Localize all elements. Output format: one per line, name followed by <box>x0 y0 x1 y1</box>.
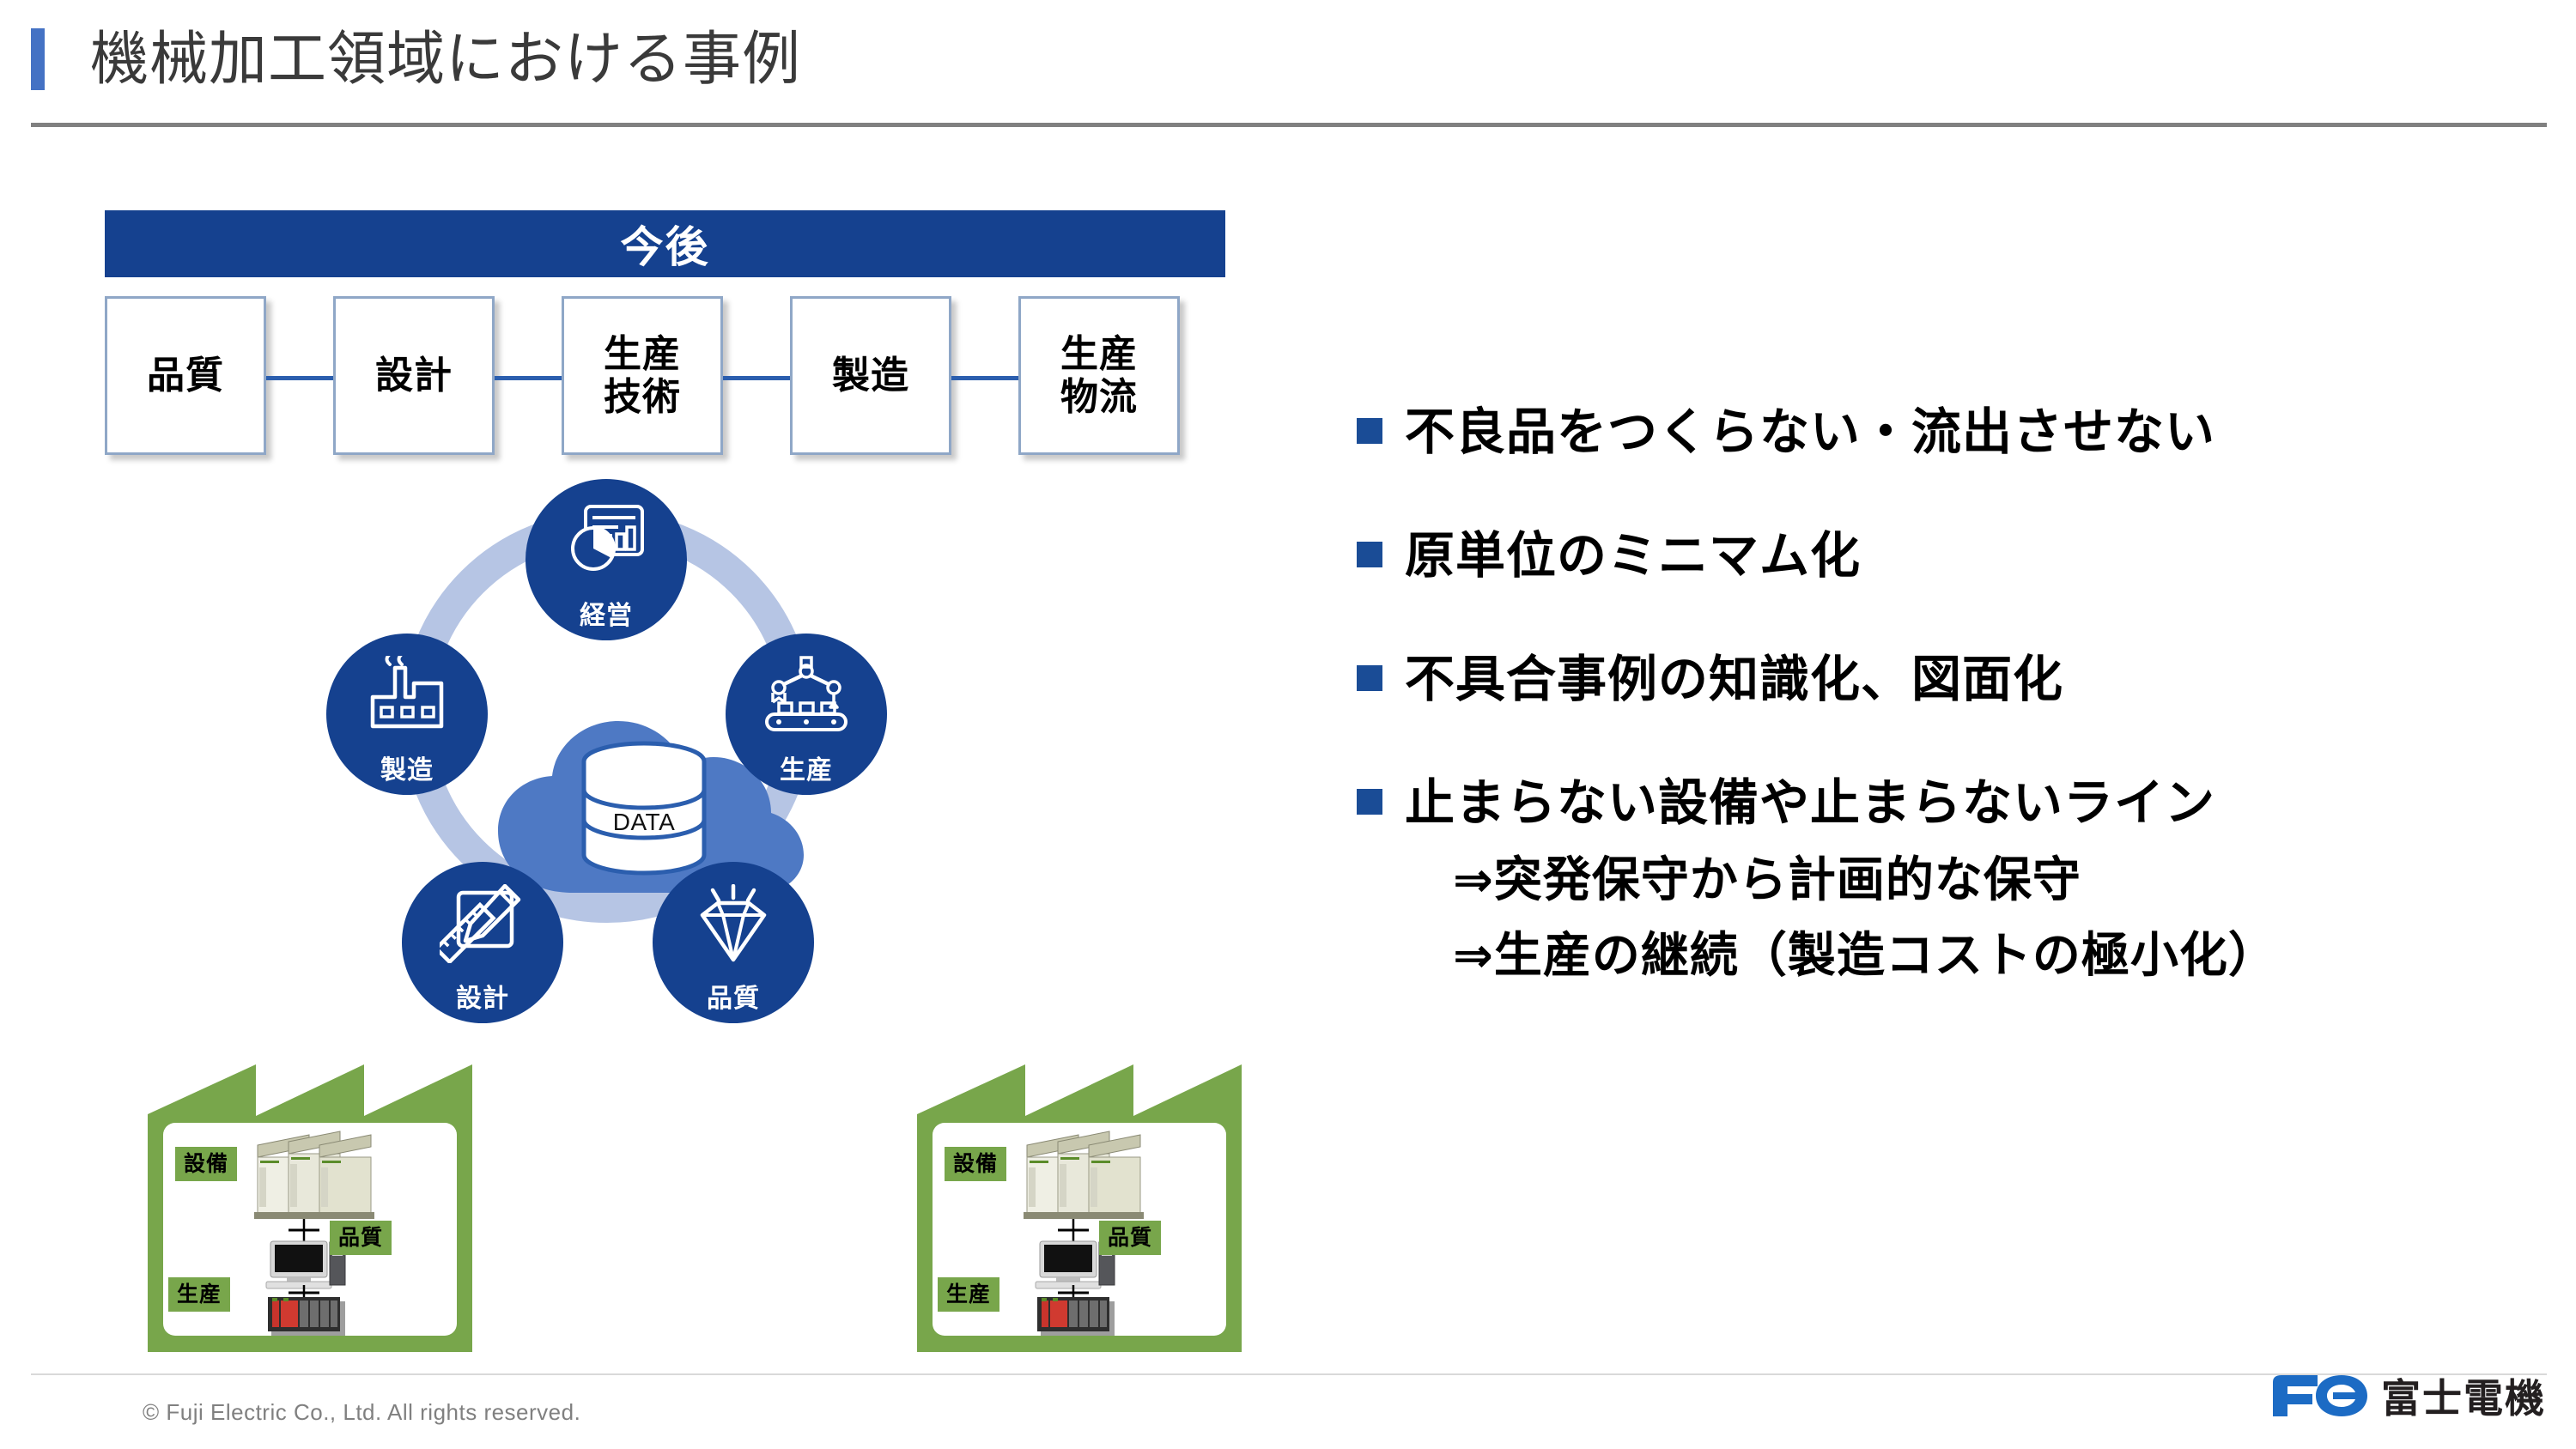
fuji-electric-fe-logo-icon <box>2269 1372 2371 1424</box>
diagram-node-design[interactable]: 設計 <box>402 862 563 1023</box>
copyright-text: © Fuji Electric Co., Ltd. All rights res… <box>143 1399 580 1426</box>
title-accent-bar <box>31 28 45 90</box>
factory-tag-quality: 品質 <box>1099 1221 1161 1255</box>
page-title: 機械加工領域における事例 <box>90 26 801 93</box>
bullet-text: 不良品をつくらない・流出させない <box>1405 403 2215 462</box>
diagram-node-quality[interactable]: 品質 <box>653 862 814 1023</box>
process-box-label: 品質 <box>147 355 224 397</box>
bullet-item-4: 止まらない設備や止まらないライン ⇒突発保守から計画的な保守 ⇒生産の継続（製造… <box>1357 774 2542 984</box>
process-connector-1 <box>266 376 333 380</box>
process-box-label: 生産 技術 <box>604 333 681 419</box>
bullet-item-1: 不良品をつくらない・流出させない <box>1357 403 2542 462</box>
process-connector-2 <box>495 376 562 380</box>
company-logo: 富士電機 <box>2269 1372 2546 1424</box>
footer-divider <box>31 1373 2547 1375</box>
factory-tag-equipment: 設備 <box>945 1147 1006 1181</box>
process-connector-3 <box>723 376 790 380</box>
factory-tag-production: 生産 <box>938 1277 999 1312</box>
process-box-label: 製造 <box>832 355 909 397</box>
bullet-item-3: 不具合事例の知識化、図面化 <box>1357 651 2542 709</box>
process-box-label: 設計 <box>375 355 453 397</box>
process-box-quality[interactable]: 品質 <box>105 296 266 455</box>
diagram-node-label: 生産 <box>780 749 833 786</box>
bullet-text: 原単位のミニマム化 <box>1405 527 1861 585</box>
diagram-node-label: 製造 <box>380 749 434 786</box>
bullet-subline: ⇒生産の継続（製造コストの極小化） <box>1453 927 2277 984</box>
diagram-node-manufacturing[interactable]: 製造 <box>326 634 488 795</box>
process-box-production-technology[interactable]: 生産 技術 <box>562 296 723 455</box>
factory-card-1[interactable]: 設備 品質 生産 <box>148 1064 472 1352</box>
dashboard-chart-icon <box>526 501 687 577</box>
diagram-node-production[interactable]: 生産 <box>726 634 887 795</box>
process-band-header: 今後 <box>105 210 1225 277</box>
bullet-text: 止まらない設備や止まらないライン <box>1405 774 2277 833</box>
bullet-list: 不良品をつくらない・流出させない 原単位のミニマム化 不具合事例の知識化、図面化… <box>1357 403 2542 984</box>
data-hub-diagram: DATA 経営 <box>301 489 987 1142</box>
diagram-node-label: 経営 <box>580 594 633 632</box>
bullet-square-icon <box>1357 789 1382 815</box>
factory-tag-quality: 品質 <box>330 1221 392 1255</box>
pencil-ruler-drawing-icon <box>402 884 563 963</box>
bullet-square-icon <box>1357 418 1382 444</box>
slide-root: 機械加工領域における事例 今後 品質 設計 生産 技術 製造 生産 物流 <box>0 0 2576 1449</box>
factory-tag-equipment: 設備 <box>175 1147 237 1181</box>
process-band-header-label: 今後 <box>621 213 710 275</box>
center-data-label: DATA <box>472 809 816 836</box>
diagram-node-management[interactable]: 経営 <box>526 479 687 640</box>
bullet-text: 不具合事例の知識化、図面化 <box>1405 651 2063 709</box>
process-box-label: 生産 物流 <box>1060 333 1138 419</box>
diagram-node-label: 品質 <box>707 977 760 1015</box>
factory-card-2[interactable]: 設備 品質 生産 <box>917 1064 1242 1352</box>
factory-icon <box>326 656 488 730</box>
diamond-icon <box>653 884 814 963</box>
bullet-item-2: 原単位のミニマム化 <box>1357 527 2542 585</box>
factory-card-inner: 設備 品質 生産 <box>163 1123 457 1336</box>
company-logo-text: 富士電機 <box>2381 1377 2546 1420</box>
diagram-node-label: 設計 <box>456 977 509 1015</box>
robot-arm-conveyor-icon <box>726 656 887 733</box>
title-divider <box>31 123 2547 127</box>
factory-tag-production: 生産 <box>168 1277 230 1312</box>
bullet-subline: ⇒突発保守から計画的な保守 <box>1453 852 2277 908</box>
factory-card-inner: 設備 品質 生産 <box>933 1123 1226 1336</box>
process-box-design[interactable]: 設計 <box>333 296 495 455</box>
bullet-square-icon <box>1357 665 1382 691</box>
process-connector-4 <box>951 376 1018 380</box>
process-box-manufacturing[interactable]: 製造 <box>790 296 951 455</box>
process-box-production-logistics[interactable]: 生産 物流 <box>1018 296 1180 455</box>
bullet-square-icon <box>1357 542 1382 567</box>
